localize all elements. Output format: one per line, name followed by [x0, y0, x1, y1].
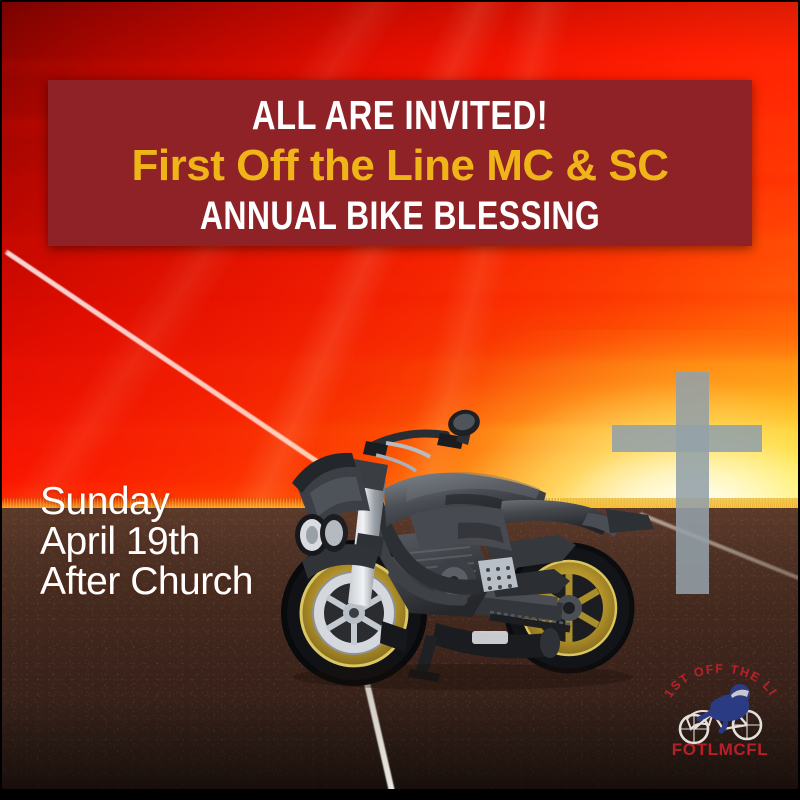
frame-edge-top: [0, 0, 800, 2]
event-time: After Church: [40, 562, 253, 602]
logo-arc-text: 1ST OFF THE LINE: [661, 663, 779, 700]
header-banner: ALL ARE INVITED! First Off the Line MC &…: [48, 80, 752, 246]
banner-line-club-name: First Off the Line MC & SC: [48, 140, 752, 192]
logo-bottom-text: FOTLMCFL: [672, 740, 768, 759]
bike-blessing-poster: ALL ARE INVITED! First Off the Line MC &…: [0, 0, 800, 800]
event-day: Sunday: [40, 482, 253, 522]
frame-edge-bottom: [0, 789, 800, 800]
event-date: April 19th: [40, 522, 253, 562]
banner-line-invited: ALL ARE INVITED!: [118, 90, 681, 140]
motorcycle-image: [258, 385, 678, 690]
cross-vertical-bar: [676, 372, 709, 594]
frame-edge-left: [0, 0, 2, 800]
banner-line-event-title: ANNUAL BIKE BLESSING: [118, 192, 681, 240]
logo-rider-graphic: [680, 684, 761, 743]
event-details: Sunday April 19th After Church: [40, 482, 253, 602]
club-logo: 1ST OFF THE LINE: [661, 663, 779, 759]
